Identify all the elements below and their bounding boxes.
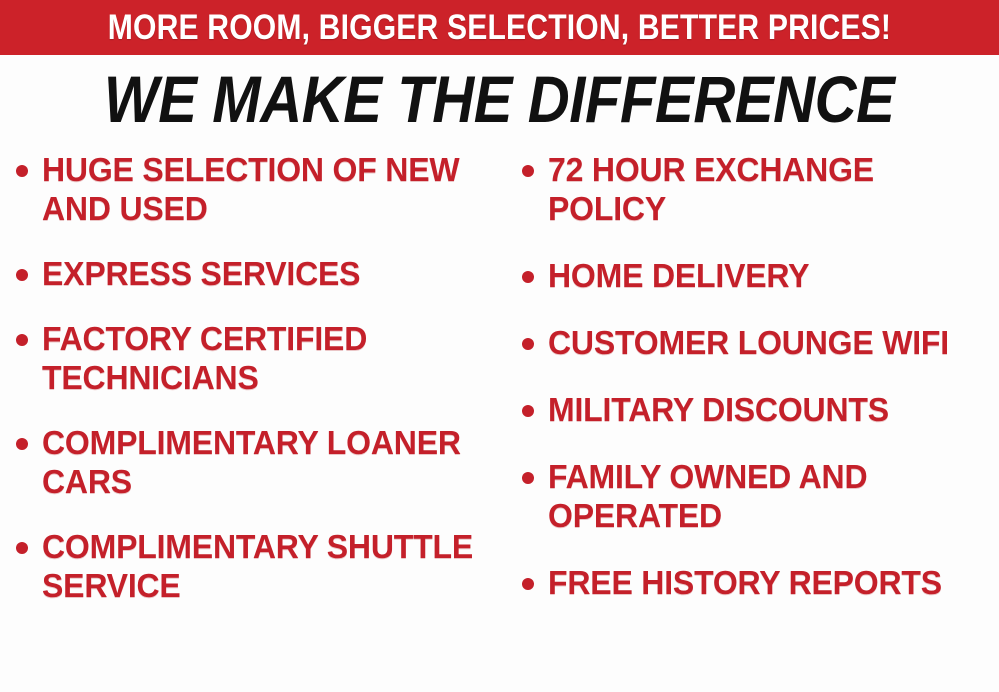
dealership-benefits-ad: MORE ROOM, BIGGER SELECTION, BETTER PRIC… — [0, 0, 999, 692]
list-item: FREE HISTORY REPORTS — [522, 564, 999, 603]
list-item-label: COMPLIMENTARY LOANER CARS — [42, 424, 492, 502]
list-item: FAMILY OWNED AND OPERATED — [522, 458, 999, 536]
list-item-label: MILITARY DISCOUNTS — [548, 391, 889, 430]
benefits-columns: HUGE SELECTION OF NEW AND USED EXPRESS S… — [0, 137, 999, 692]
bullet-dot-icon — [16, 269, 28, 281]
list-item-label: EXPRESS SERVICES — [42, 255, 360, 294]
bullet-dot-icon — [522, 578, 534, 590]
bullet-dot-icon — [522, 165, 534, 177]
benefits-column-right: 72 HOUR EXCHANGE POLICY HOME DELIVERY CU… — [506, 151, 999, 631]
list-item: CUSTOMER LOUNGE WIFI — [522, 324, 999, 363]
list-item-label: FAMILY OWNED AND OPERATED — [548, 458, 985, 536]
list-item-label: 72 HOUR EXCHANGE POLICY — [548, 151, 985, 229]
promo-strip-text: MORE ROOM, BIGGER SELECTION, BETTER PRIC… — [108, 10, 891, 45]
bullet-dot-icon — [16, 438, 28, 450]
list-item: MILITARY DISCOUNTS — [522, 391, 999, 430]
headline-container: WE MAKE THE DIFFERENCE — [0, 55, 999, 137]
list-item: COMPLIMENTARY LOANER CARS — [16, 424, 506, 502]
list-item: HOME DELIVERY — [522, 257, 999, 296]
bullet-dot-icon — [522, 271, 534, 283]
page-title: WE MAKE THE DIFFERENCE — [104, 66, 895, 132]
list-item: 72 HOUR EXCHANGE POLICY — [522, 151, 999, 229]
list-item-label: COMPLIMENTARY SHUTTLE SERVICE — [42, 528, 492, 606]
list-item-label: CUSTOMER LOUNGE WIFI — [548, 324, 949, 363]
list-item: HUGE SELECTION OF NEW AND USED — [16, 151, 506, 229]
promo-strip: MORE ROOM, BIGGER SELECTION, BETTER PRIC… — [0, 0, 999, 55]
bullet-dot-icon — [522, 472, 534, 484]
bullet-dot-icon — [16, 542, 28, 554]
list-item-label: HUGE SELECTION OF NEW AND USED — [42, 151, 492, 229]
list-item: FACTORY CERTIFIED TECHNICIANS — [16, 320, 506, 398]
list-item-label: FREE HISTORY REPORTS — [548, 564, 942, 603]
bullet-dot-icon — [522, 405, 534, 417]
list-item: COMPLIMENTARY SHUTTLE SERVICE — [16, 528, 506, 606]
benefits-column-left: HUGE SELECTION OF NEW AND USED EXPRESS S… — [0, 151, 506, 631]
list-item-label: HOME DELIVERY — [548, 257, 809, 296]
bullet-dot-icon — [522, 338, 534, 350]
list-item: EXPRESS SERVICES — [16, 255, 506, 294]
bullet-dot-icon — [16, 165, 28, 177]
bullet-dot-icon — [16, 334, 28, 346]
list-item-label: FACTORY CERTIFIED TECHNICIANS — [42, 320, 492, 398]
